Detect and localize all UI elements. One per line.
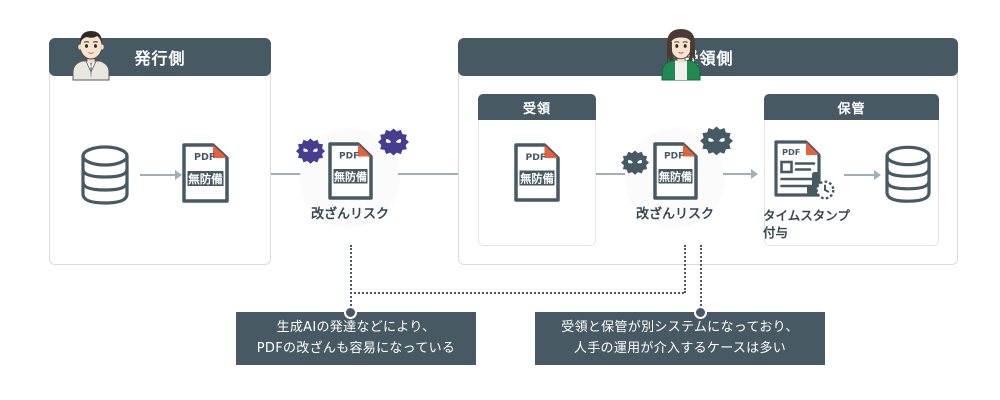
svg-text:無防備: 無防備 [659, 170, 692, 184]
callout-ai-tampering-line1: 生成AIの発達などにより、 [277, 318, 436, 338]
issuer-pdf-document: PDF 無防備 [182, 143, 229, 203]
svg-text:PDF: PDF [526, 152, 547, 163]
store-internal-connector-arrow [874, 170, 881, 180]
sub-panel-store-title: 保管 [837, 98, 865, 117]
issuer-internal-connector [140, 174, 175, 176]
sub-panel-receive-title: 受領 [523, 98, 551, 117]
callout-separate-systems: 受領と保管が別システムになっており、 人手の運用が介入するケースは多い [535, 312, 825, 365]
virus-icon-right-b [700, 126, 733, 159]
timestamp-label: タイムスタンプ 付与 [763, 208, 873, 242]
connector-risk-to-store [723, 173, 751, 175]
svg-text:PDF: PDF [664, 152, 684, 162]
virus-icon-left-b [378, 128, 409, 159]
store-database-icon [882, 144, 934, 204]
issuer-panel-title: 発行側 [134, 45, 185, 69]
risk-right-label: 改ざんリスク [625, 203, 725, 222]
svg-text:PDF: PDF [194, 152, 215, 163]
risk-right-pdf-document: PDF 無防備 [653, 142, 698, 200]
issuer-database-icon [78, 144, 132, 206]
businessman-avatar [60, 26, 122, 80]
sub-panel-receive-header: 受領 [478, 94, 596, 120]
callout-ai-tampering-dot [344, 306, 357, 319]
svg-text:無防備: 無防備 [334, 170, 367, 184]
callout-ai-tampering: 生成AIの発達などにより、 PDFの改ざんも容易になっている [236, 312, 476, 365]
svg-text:無防備: 無防備 [520, 171, 554, 185]
diagram-canvas: 発行側 [0, 0, 1000, 400]
virus-icon-left-a [296, 138, 325, 167]
leader-line-horizontal [350, 292, 684, 294]
issuer-internal-connector-arrow [175, 170, 182, 180]
sub-panel-store-header: 保管 [764, 94, 939, 120]
businesswoman-avatar [650, 26, 712, 80]
store-internal-connector [844, 174, 874, 176]
connector-risk-to-store-arrow [751, 169, 758, 179]
receive-pdf-document: PDF 無防備 [514, 143, 560, 202]
svg-text:無防備: 無防備 [188, 172, 223, 186]
callout-separate-systems-line1: 受領と保管が別システムになっており、 [561, 318, 798, 338]
timestamped-document-icon: PDF [774, 140, 836, 205]
leader-line-right-branch [684, 245, 686, 293]
callout-ai-tampering-line2: PDFの改ざんも容易になっている [257, 339, 455, 359]
svg-text:PDF: PDF [339, 152, 359, 162]
virus-icon-right-a [621, 150, 649, 178]
risk-left-label: 改ざんリスク [300, 203, 400, 222]
callout-separate-systems-line2: 人手の運用が介入するケースは多い [574, 339, 786, 359]
connector-issuer-to-risk [271, 173, 303, 175]
risk-left-pdf-document: PDF 無防備 [328, 142, 373, 200]
callout-separate-systems-dot [694, 306, 707, 319]
svg-text:PDF: PDF [782, 147, 800, 157]
